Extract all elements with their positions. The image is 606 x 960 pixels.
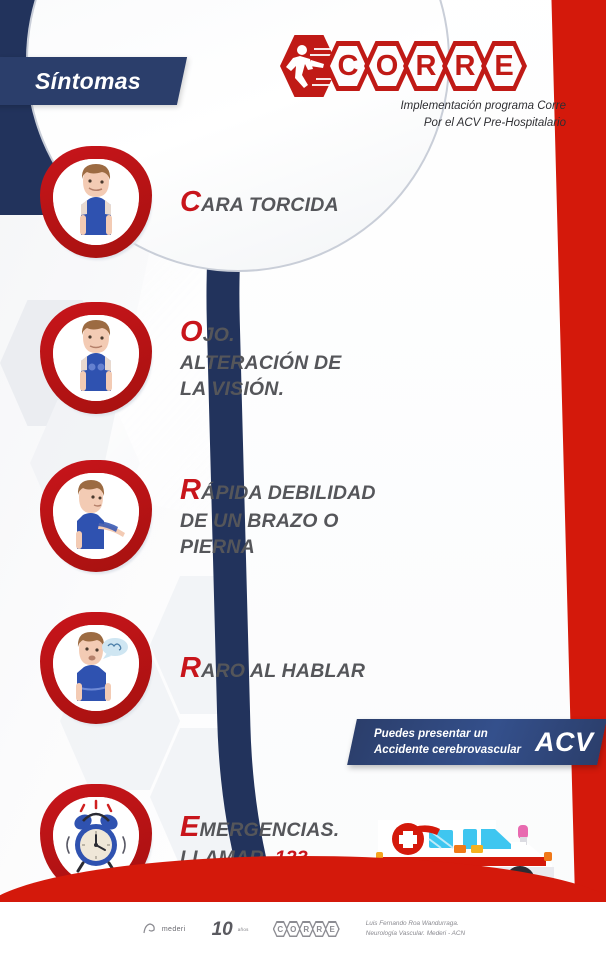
symptom-row-cara-torcida: CARA TORCIDA: [40, 146, 339, 258]
symptom-rest: ÁPIDA DEBILIDAD DE UN BRAZO O PIERNA: [180, 482, 376, 558]
mederi-label: mederi: [162, 926, 186, 933]
mederi-mark-icon: [141, 921, 157, 937]
footer-corre-letter: E: [330, 925, 335, 934]
symptom-initial: C: [180, 186, 201, 218]
symptom-rest: ARA TORCIDA: [201, 194, 339, 216]
corre-letter: O: [376, 52, 399, 81]
footer-corre-letter: O: [290, 925, 296, 934]
corre-logo-block: C O R R E Implementación programa Corre …: [280, 38, 570, 131]
acv-line1: Puedes presentar un: [374, 728, 488, 740]
symptom-text-debilidad: RÁPIDA DEBILIDAD DE UN BRAZO O PIERNA: [180, 471, 376, 561]
logo-subtitle-line2: Por el ACV Pre-Hospitalario: [280, 115, 566, 132]
symptom-row-ojo-vision: OJO. ALTERACIÓN DE LA VISIÓN.: [40, 302, 342, 414]
mederi-logo: mederi: [141, 921, 186, 937]
symptom-row-debilidad: RÁPIDA DEBILIDAD DE UN BRAZO O PIERNA: [40, 460, 376, 572]
symptom-badge-debilidad: [40, 460, 152, 572]
sintomas-label: Síntomas: [35, 68, 141, 95]
corre-letter: E: [494, 52, 513, 81]
infographic-poster: Síntomas: [0, 0, 606, 960]
symptom-initial: E: [180, 811, 200, 843]
symptom-badge-ojo-vision: [40, 302, 152, 414]
anniversary-number: 10: [212, 920, 233, 939]
symptom-row-raro-hablar: RARO AL HABLAR: [40, 612, 365, 724]
symptom-text-ojo-vision: OJO. ALTERACIÓN DE LA VISIÓN.: [180, 313, 342, 403]
corre-letter: R: [455, 52, 476, 81]
footer-corre-letter: R: [303, 925, 309, 934]
corre-letter-hex: E: [481, 41, 527, 91]
logo-subtitle-line1: Implementación programa Corre: [280, 98, 566, 115]
corre-letter: C: [338, 52, 359, 81]
acv-line2: Accidente cerebrovascular: [374, 744, 521, 756]
symptom-rest: JO. ALTERACIÓN DE LA VISIÓN.: [180, 324, 342, 400]
symptom-text-raro-hablar: RARO AL HABLAR: [180, 649, 365, 687]
symptom-initial: R: [180, 474, 201, 506]
footer-corre-letter: R: [316, 925, 322, 934]
footer-corre-letter: C: [277, 925, 283, 934]
symptom-badge-cara-torcida: [40, 146, 152, 258]
symptom-initial: R: [180, 652, 201, 684]
symptom-rest: ARO AL HABLAR: [201, 660, 365, 682]
footer: mederi 10 años C O R R E Luis Fernando R…: [0, 906, 606, 952]
corre-letter: R: [416, 52, 437, 81]
anniversary-label: años: [238, 927, 249, 932]
acv-acronym: ACV: [535, 727, 594, 758]
acv-banner-text: Puedes presentar unAccidente cerebrovasc…: [374, 726, 521, 758]
anniversary-logo: 10 años: [212, 920, 249, 939]
footer-credit: Luis Fernando Roa Wandurraga. Neurología…: [366, 919, 465, 938]
footer-corre-logo: C O R R E: [275, 921, 340, 937]
symptom-badge-raro-hablar: [40, 612, 152, 724]
symptom-initial: O: [180, 316, 203, 348]
corre-hex-letters: C O R R E: [332, 41, 527, 91]
sintomas-section-banner: Síntomas: [0, 57, 187, 105]
logo-subtitle: Implementación programa Corre Por el ACV…: [280, 98, 570, 131]
symptom-text-cara-torcida: CARA TORCIDA: [180, 183, 339, 221]
acv-warning-banner: Puedes presentar unAccidente cerebrovasc…: [347, 719, 606, 765]
